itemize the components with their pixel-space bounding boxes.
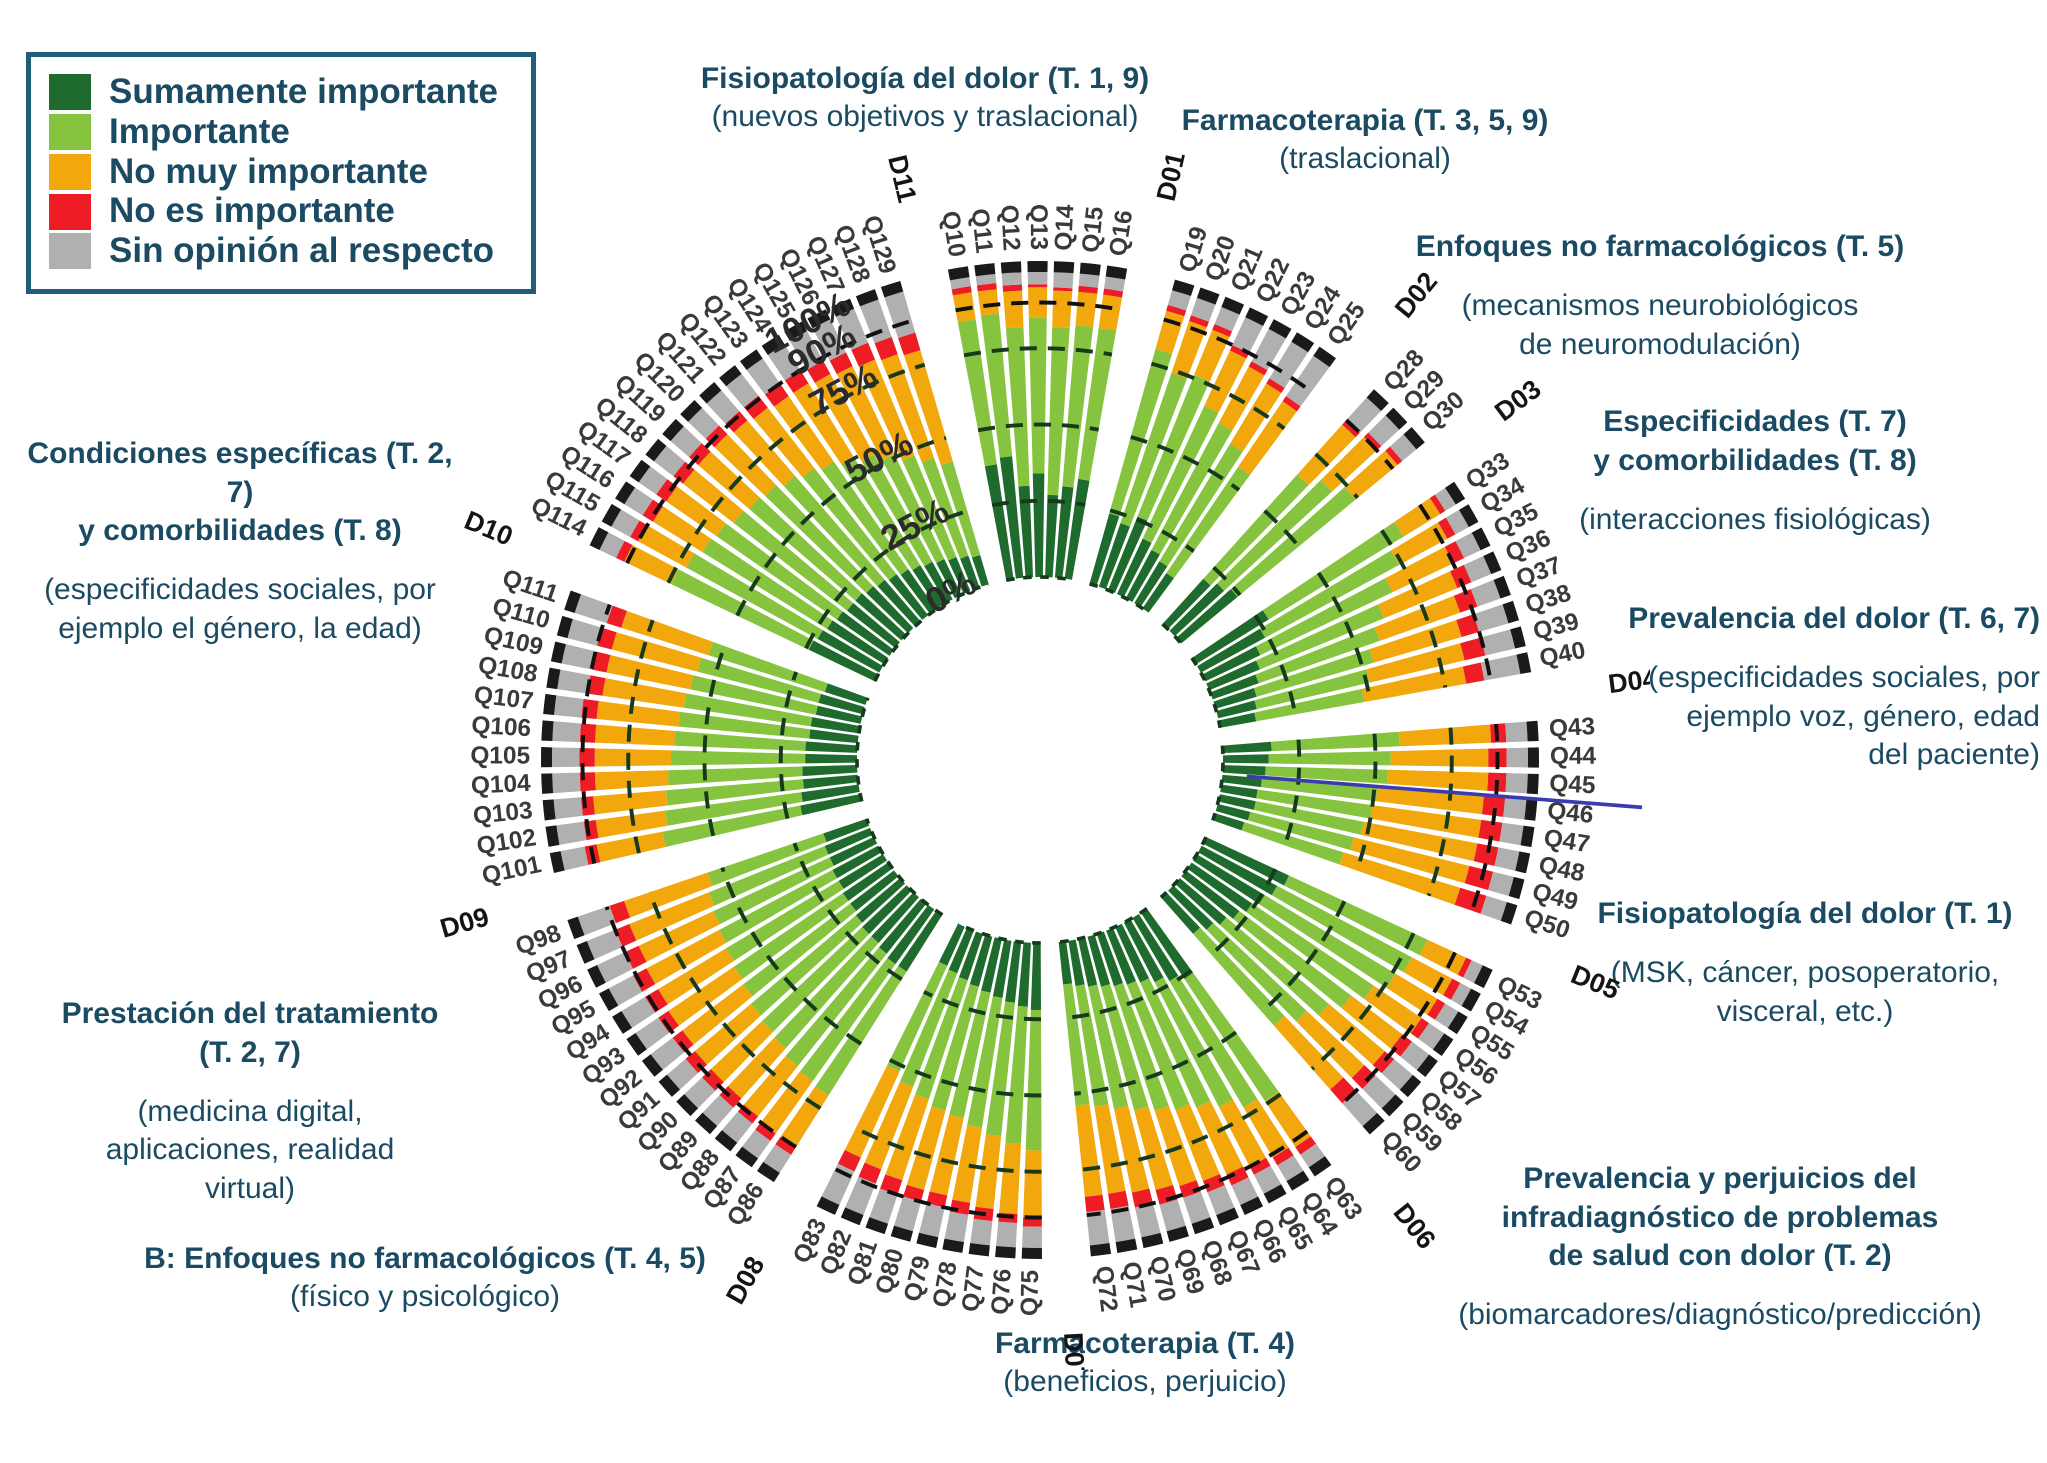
bar-segment [999,1143,1021,1214]
question-label: Q10 [936,209,970,259]
domain-label-d10: D10 [460,505,517,552]
bar-segment [1217,480,1332,591]
bar-segment [1028,272,1048,284]
annotation-subtitle: (medicina digital, aplicaciones, realida… [50,1093,450,1208]
bar-segment [578,906,616,935]
bar-outer-tick [1524,800,1537,821]
bar-segment [557,670,590,694]
question-label: Q72 [1090,1264,1122,1313]
bar-segment [1156,311,1185,354]
bar-segment [996,1222,1017,1248]
bar-outer-tick [1022,1248,1042,1259]
bar-segment [944,1212,968,1242]
bar-segment [567,619,602,646]
bar-segment [1052,290,1072,327]
bar-segment [595,725,675,746]
bar-segment [1463,663,1484,684]
bar-segment [1031,943,1041,1010]
bar-segment [1160,1200,1186,1232]
bar-segment [1271,732,1400,751]
bar-segment [1099,295,1122,331]
bar-segment [554,695,583,717]
bar-segment [970,1219,992,1246]
legend-swatch-sumamente-importante [49,74,91,110]
bar-segment [805,754,857,764]
bar-segment [671,750,805,765]
bar-segment [802,765,857,776]
question-label: Q43 [1548,713,1596,743]
bar-outer-tick [1027,261,1047,272]
bar-outer-tick [1527,774,1539,795]
bar-segment [1399,725,1491,747]
question-label: Q106 [471,712,532,742]
annotation-subtitle: (especificidades sociales, por ejemplo v… [1600,659,2040,774]
bar-outer-tick [995,1246,1016,1258]
legend-label: Importante [109,114,290,151]
bar-segment [1108,1191,1129,1209]
bar-segment [1085,1195,1105,1212]
bar-outer-tick [1080,263,1101,276]
bar-segment [975,1134,1001,1209]
legend-label: No muy importante [109,154,428,191]
bar-segment [1222,742,1271,753]
domain-label-d06: D06 [1388,1197,1442,1254]
domain-label-d02: D02 [1389,266,1443,323]
bar-outer-tick [543,694,556,715]
bar-segment [978,289,999,315]
bar-segment [1499,823,1523,845]
question-label: Q44 [1550,743,1597,770]
bar-segment [554,797,583,819]
radial-stacked-bar-chart: Q10Q11Q12Q13Q14Q15Q16Q19Q20Q21Q22Q23Q24Q… [430,150,1650,1370]
question-label: Q12 [995,204,1025,252]
bar-segment [1494,847,1519,870]
question-label: Q76 [987,1268,1017,1316]
question-label: Q14 [1050,203,1079,251]
annotation-title: Fisiopatología del dolor (T. 1, 9) [690,60,1160,98]
bar-segment [1028,284,1047,287]
bar-segment [556,822,586,845]
bar-segment [805,741,857,753]
bar-segment [1022,1226,1042,1248]
bar-segment [1223,754,1269,763]
bar-segment [1003,285,1023,292]
bar-segment [1269,751,1391,765]
bar-segment [1506,773,1528,793]
bar-outer-tick [1001,261,1022,273]
bar-segment [595,748,671,766]
bar-segment [1223,765,1266,775]
bar-outer-tick [541,747,552,767]
domain-label-d03: D03 [1489,374,1546,427]
legend-label: No es importante [109,193,395,230]
bar-segment [552,721,581,742]
bar-segment [1455,888,1487,914]
question-label: Q15 [1077,205,1109,254]
bar-segment [1002,272,1022,285]
chart-svg: Q10Q11Q12Q13Q14Q15Q16Q19Q20Q21Q22Q23Q24Q… [430,150,1650,1370]
annotation-subtitle: (nuevos objetivos y traslacional) [690,98,1160,136]
domain-label-d04: D04 [1606,663,1650,699]
question-label: Q13 [1025,204,1052,250]
annotation-d01: Fisiopatología del dolor (T. 1, 9) (nuev… [690,60,1160,137]
bar-segment [1003,291,1023,329]
bar-segment [1481,629,1515,655]
bar-segment [1503,798,1526,819]
bar-segment [1135,1203,1161,1237]
bar-segment [1023,1150,1042,1217]
legend-label: Sumamente importante [109,74,498,111]
bar-segment [845,1177,875,1215]
bar-segment [1079,274,1100,288]
bar-segment [1465,866,1493,890]
domain-label-d07: D07 [1058,1332,1091,1370]
domain-label-d11: D11 [882,152,922,205]
bar-outer-tick [543,799,556,820]
bar-segment [1076,292,1098,327]
domain-label-d08: D08 [720,1251,770,1309]
bar-segment [561,847,589,871]
annotation-d10: Prestación del tratamiento (T. 2, 7) (me… [50,975,450,1228]
bar-segment [552,747,580,767]
legend-swatch-no-es-importante [49,194,91,230]
bar-outer-tick [541,720,553,741]
chart-center-hub [859,579,1220,940]
bar-segment [919,1203,945,1237]
legend-item: Importante [49,114,513,151]
bar-segment [1053,272,1073,288]
annotation-d05: Prevalencia del dolor (T. 6, 7) (especif… [1600,580,2040,795]
bar-segment [1026,1010,1042,1150]
annotation-title: Farmacoterapia (T. 3, 5, 9) [1175,102,1555,140]
legend-swatch-importante [49,114,91,150]
bar-outer-tick [1528,747,1539,767]
bar-segment [1505,722,1527,743]
domain-label-d01: D01 [1151,150,1191,204]
question-label: Q105 [470,742,530,769]
annotation-subtitle: (especificidades sociales, por ejemplo e… [10,571,470,648]
question-label: Q77 [957,1264,989,1313]
legend-swatch-sin-opinion [49,233,91,269]
bar-outer-tick [1054,261,1075,273]
bar-segment [1033,473,1045,577]
bar-outer-tick [541,773,553,794]
bar-segment [1474,604,1509,631]
annotation-d11: Condiciones específicas (T. 2, 7) y como… [10,415,470,668]
bar-outer-tick [1526,721,1538,742]
bar-segment [1507,748,1528,768]
question-label: Q75 [1016,1270,1044,1317]
question-label: Q104 [470,770,531,800]
annotation-title: Prevalencia del dolor (T. 6, 7) [1600,600,2040,638]
annotation-title: Prestación del tratamiento (T. 2, 7) [50,995,450,1072]
legend-swatch-no-muy-importante [49,154,91,190]
domain-label-d09: D09 [437,901,493,943]
bar-segment [1391,749,1489,767]
domain-label-d05: D05 [1567,959,1624,1005]
bar-segment [1029,318,1047,474]
annotation-title: Condiciones específicas (T. 2, 7) y como… [10,435,470,550]
bar-segment [552,773,580,794]
legend-item: Sumamente importante [49,74,513,111]
question-label: Q11 [966,207,998,254]
bar-segment [1474,843,1499,866]
question-label: Q45 [1549,770,1596,799]
bar-segment [595,770,669,790]
question-label: Q16 [1105,208,1139,258]
bar-outer-tick [974,263,995,276]
